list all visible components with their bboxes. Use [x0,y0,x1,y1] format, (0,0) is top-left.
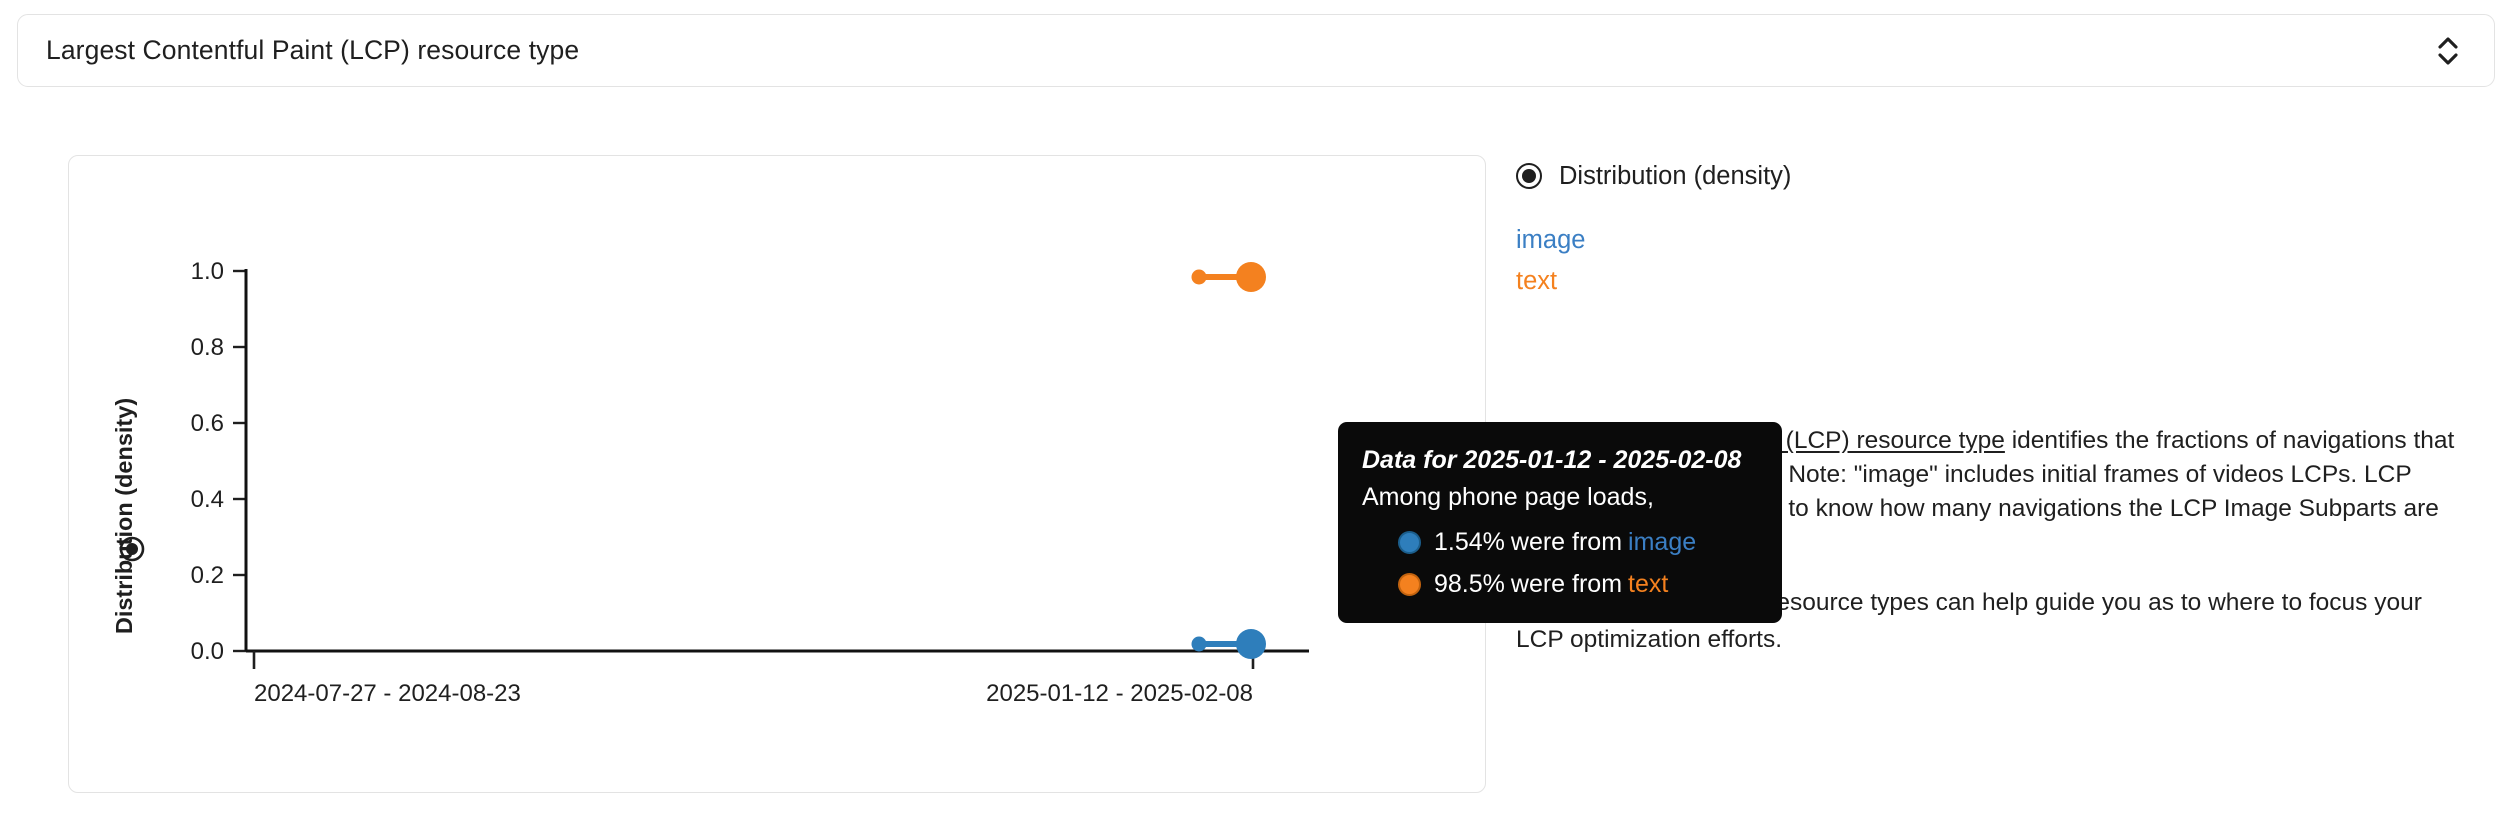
metric-option-label: Distribution (density) [1559,162,1791,191]
y-axis-label: Distribution (density) [111,398,143,634]
y-tick-label: 0.6 [191,410,224,437]
series-dot-text-icon [1398,573,1421,596]
tooltip-row-value: 1.54% [1434,527,1505,557]
x-tick-label: 2025-01-12 - 2025-02-08 [986,680,1253,707]
main-content: Distribution (density) 1.0 0.8 0.6 0.4 0… [0,88,2512,820]
tooltip-row-series: image [1628,527,1696,557]
tooltip-row-text: 98.5% were from text [1362,569,1758,599]
chart-legend: image text [1516,221,2466,300]
metric-option-distribution-density[interactable]: Distribution (density) [1516,155,2466,197]
axis-spines [246,269,1309,651]
legend-item-image[interactable]: image [1516,221,1585,259]
data-point-highlighted[interactable] [1236,629,1266,659]
tooltip-row-series: text [1628,569,1668,599]
tooltip-subtitle: Among phone page loads, [1362,479,1758,515]
tooltip-row-middle: were from [1511,527,1622,557]
panel-header[interactable]: Largest Contentful Paint (LCP) resource … [17,14,2495,87]
x-axis-ticks: 2024-07-27 - 2024-08-23 2025-01-12 - 202… [254,651,1253,707]
data-point[interactable] [1192,637,1207,652]
data-point-highlighted[interactable] [1236,262,1266,292]
tooltip-row-middle: were from [1511,569,1622,599]
y-tick-label: 1.0 [191,258,224,285]
page-title: Largest Contentful Paint (LCP) resource … [46,35,579,66]
y-axis-label-text: Distribution (density) [111,398,137,634]
chart-tooltip: Data for 2025-01-12 - 2025-02-08 Among p… [1338,422,1782,623]
chevron-up-down-icon[interactable] [2428,27,2468,75]
y-tick-label: 0.8 [191,334,224,361]
y-tick-label: 0.2 [191,562,224,589]
tooltip-title: Data for 2025-01-12 - 2025-02-08 [1362,443,1758,477]
data-point[interactable] [1192,270,1207,285]
series-dot-image-icon [1398,531,1421,554]
series-text[interactable] [1192,262,1267,292]
y-tick-label: 0.0 [191,638,224,665]
y-tick-label: 0.4 [191,486,224,513]
y-axis-ticks: 1.0 0.8 0.6 0.4 0.2 0.0 [191,258,246,665]
legend-item-text[interactable]: text [1516,262,1557,300]
series-image[interactable] [1192,629,1267,659]
radio-selected-icon[interactable] [1516,163,1542,189]
chart-panel[interactable]: Distribution (density) 1.0 0.8 0.6 0.4 0… [68,155,1486,793]
x-tick-label: 2024-07-27 - 2024-08-23 [254,680,521,707]
lcp-resource-type-chart[interactable]: Distribution (density) 1.0 0.8 0.6 0.4 0… [69,156,1483,790]
tooltip-row-image: 1.54% were from image [1362,527,1758,557]
tooltip-row-value: 98.5% [1434,569,1505,599]
